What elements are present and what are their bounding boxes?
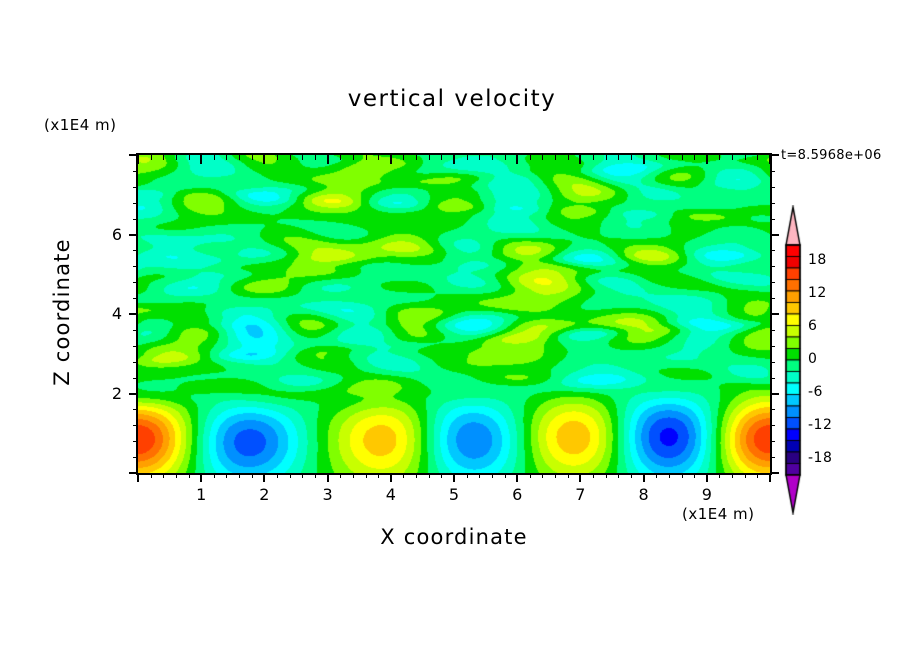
x-tick-minor xyxy=(467,473,468,478)
contour-plot-area xyxy=(136,153,772,475)
x-tick-major-top xyxy=(706,155,708,164)
x-tick-major-top xyxy=(263,155,265,164)
x-tick-minor xyxy=(239,473,240,478)
y-tick-minor xyxy=(133,409,138,410)
x-tick-label: 8 xyxy=(624,485,664,504)
y-tick-minor xyxy=(133,203,138,204)
y-tick-major xyxy=(129,313,138,315)
x-tick-minor xyxy=(353,473,354,478)
y-tick-minor xyxy=(133,171,138,172)
x-tick-label: 7 xyxy=(560,485,600,504)
x-tick-major-top xyxy=(137,155,139,164)
x-tick-minor xyxy=(757,473,758,478)
x-tick-major xyxy=(390,473,392,482)
x-tick-major xyxy=(516,473,518,482)
x-tick-minor-top xyxy=(353,155,354,160)
y-tick-minor-right xyxy=(770,409,775,410)
colorbar-tick-label: -12 xyxy=(808,417,832,433)
x-tick-minor xyxy=(290,473,291,478)
x-tick-major xyxy=(453,473,455,482)
x-axis-title: X coordinate xyxy=(136,525,772,549)
colorbar-tick-label: -6 xyxy=(808,384,823,400)
x-tick-minor xyxy=(530,473,531,478)
x-tick-major-top xyxy=(327,155,329,164)
colorbar-tick-label: 12 xyxy=(808,285,827,301)
x-tick-minor-top xyxy=(441,155,442,160)
y-tick-minor-right xyxy=(770,441,775,442)
x-tick-minor xyxy=(631,473,632,478)
y-tick-minor-right xyxy=(770,298,775,299)
y-tick-minor-right xyxy=(770,330,775,331)
x-tick-minor xyxy=(403,473,404,478)
x-tick-major xyxy=(263,473,265,482)
colorbar-tick-label: -18 xyxy=(808,450,832,466)
y-tick-minor xyxy=(133,457,138,458)
y-tick-minor xyxy=(133,425,138,426)
x-tick-minor-top xyxy=(732,155,733,160)
x-tick-minor xyxy=(429,473,430,478)
x-tick-minor-top xyxy=(593,155,594,160)
x-tick-minor xyxy=(593,473,594,478)
x-tick-minor xyxy=(479,473,480,478)
x-tick-major xyxy=(137,473,139,482)
y-tick-minor-right xyxy=(770,171,775,172)
x-tick-major xyxy=(706,473,708,482)
x-tick-minor-top xyxy=(682,155,683,160)
x-tick-minor xyxy=(618,473,619,478)
x-tick-minor xyxy=(366,473,367,478)
x-tick-minor-top xyxy=(757,155,758,160)
x-tick-minor-top xyxy=(340,155,341,160)
x-tick-minor-top xyxy=(479,155,480,160)
x-tick-minor xyxy=(745,473,746,478)
x-tick-major-top xyxy=(643,155,645,164)
x-tick-minor-top xyxy=(492,155,493,160)
x-tick-minor-top xyxy=(429,155,430,160)
x-tick-minor-top xyxy=(315,155,316,160)
x-tick-minor-top xyxy=(151,155,152,160)
x-tick-major xyxy=(327,473,329,482)
x-tick-major-top xyxy=(200,155,202,164)
x-tick-minor-top xyxy=(226,155,227,160)
y-tick-major-right xyxy=(770,472,779,474)
x-tick-label: 6 xyxy=(497,485,537,504)
x-tick-minor xyxy=(542,473,543,478)
y-tick-label: 4 xyxy=(88,304,122,323)
x-tick-minor xyxy=(694,473,695,478)
x-tick-minor xyxy=(416,473,417,478)
x-tick-minor xyxy=(441,473,442,478)
y-tick-minor-right xyxy=(770,362,775,363)
x-tick-major xyxy=(579,473,581,482)
x-tick-minor xyxy=(189,473,190,478)
y-tick-label: 2 xyxy=(88,384,122,403)
x-tick-minor xyxy=(214,473,215,478)
x-tick-minor-top xyxy=(656,155,657,160)
y-tick-minor-right xyxy=(770,282,775,283)
colorbar-tick-label: 18 xyxy=(808,252,827,268)
x-tick-minor-top xyxy=(542,155,543,160)
y-tick-minor-right xyxy=(770,203,775,204)
x-tick-minor xyxy=(568,473,569,478)
y-tick-minor-right xyxy=(770,346,775,347)
x-tick-minor-top xyxy=(163,155,164,160)
x-tick-minor xyxy=(340,473,341,478)
x-tick-minor xyxy=(505,473,506,478)
timestamp-label: t=8.5968e+06 xyxy=(781,148,882,163)
y-tick-major-right xyxy=(770,393,779,395)
x-tick-minor-top xyxy=(745,155,746,160)
y-tick-minor xyxy=(133,441,138,442)
y-tick-label: 6 xyxy=(88,225,122,244)
x-tick-label: 4 xyxy=(371,485,411,504)
x-tick-minor-top xyxy=(606,155,607,160)
x-tick-minor-top xyxy=(302,155,303,160)
y-tick-minor xyxy=(133,266,138,267)
x-tick-major-top xyxy=(453,155,455,164)
colorbar-tick-label: 0 xyxy=(808,351,817,367)
x-tick-label: 5 xyxy=(434,485,474,504)
x-tick-label: 2 xyxy=(244,485,284,504)
x-tick-minor xyxy=(315,473,316,478)
y-tick-major-right xyxy=(770,154,779,156)
x-tick-label: 1 xyxy=(181,485,221,504)
y-tick-minor xyxy=(133,250,138,251)
y-tick-minor-right xyxy=(770,219,775,220)
x-tick-minor-top xyxy=(176,155,177,160)
x-tick-minor-top xyxy=(669,155,670,160)
x-tick-minor-top xyxy=(505,155,506,160)
x-tick-major-top xyxy=(516,155,518,164)
x-tick-major-top xyxy=(390,155,392,164)
page-title: vertical velocity xyxy=(0,86,904,112)
y-tick-major xyxy=(129,234,138,236)
y-tick-minor xyxy=(133,219,138,220)
y-tick-minor xyxy=(133,282,138,283)
y-tick-minor-right xyxy=(770,425,775,426)
y-tick-major xyxy=(129,472,138,474)
x-tick-minor-top xyxy=(530,155,531,160)
x-tick-minor-top xyxy=(555,155,556,160)
y-tick-minor-right xyxy=(770,378,775,379)
x-tick-minor-top xyxy=(189,155,190,160)
y-tick-major xyxy=(129,393,138,395)
x-tick-major-top xyxy=(769,155,771,164)
x-tick-minor xyxy=(656,473,657,478)
y-axis-title: Z coordinate xyxy=(50,222,74,402)
x-tick-minor-top xyxy=(719,155,720,160)
x-tick-minor-top xyxy=(252,155,253,160)
y-tick-minor-right xyxy=(770,457,775,458)
x-tick-minor xyxy=(226,473,227,478)
x-tick-minor-top xyxy=(277,155,278,160)
x-tick-minor-top xyxy=(416,155,417,160)
x-tick-minor xyxy=(719,473,720,478)
y-tick-minor xyxy=(133,346,138,347)
x-tick-minor-top xyxy=(631,155,632,160)
x-tick-major xyxy=(643,473,645,482)
y-tick-major-right xyxy=(770,313,779,315)
x-tick-label: 3 xyxy=(308,485,348,504)
x-tick-minor-top xyxy=(568,155,569,160)
x-tick-minor xyxy=(277,473,278,478)
x-tick-minor-top xyxy=(467,155,468,160)
x-tick-minor xyxy=(302,473,303,478)
y-axis-units-label: (x1E4 m) xyxy=(44,116,117,134)
x-tick-minor xyxy=(555,473,556,478)
x-tick-minor-top xyxy=(239,155,240,160)
x-tick-minor-top xyxy=(694,155,695,160)
x-tick-minor-top xyxy=(290,155,291,160)
y-tick-minor-right xyxy=(770,187,775,188)
x-tick-minor xyxy=(669,473,670,478)
x-tick-minor xyxy=(163,473,164,478)
vertical-velocity-field xyxy=(138,155,770,473)
y-tick-minor xyxy=(133,362,138,363)
x-axis-units-label: (x1E4 m) xyxy=(682,505,755,523)
x-tick-minor-top xyxy=(214,155,215,160)
x-tick-minor xyxy=(252,473,253,478)
x-tick-minor-top xyxy=(366,155,367,160)
x-tick-label: 9 xyxy=(687,485,727,504)
y-tick-minor xyxy=(133,330,138,331)
y-tick-major xyxy=(129,154,138,156)
x-tick-minor xyxy=(732,473,733,478)
x-tick-minor xyxy=(682,473,683,478)
x-tick-minor xyxy=(378,473,379,478)
y-tick-minor-right xyxy=(770,266,775,267)
y-tick-minor xyxy=(133,298,138,299)
x-tick-major xyxy=(200,473,202,482)
y-tick-minor-right xyxy=(770,250,775,251)
y-tick-minor xyxy=(133,378,138,379)
x-tick-minor-top xyxy=(403,155,404,160)
x-tick-minor xyxy=(176,473,177,478)
colorbar-tick-label: 6 xyxy=(808,318,817,334)
x-tick-minor xyxy=(151,473,152,478)
x-tick-minor-top xyxy=(618,155,619,160)
y-tick-major-right xyxy=(770,234,779,236)
x-tick-minor xyxy=(606,473,607,478)
colorbar: 181260-6-12-18 xyxy=(782,205,902,515)
x-tick-major-top xyxy=(579,155,581,164)
x-tick-major xyxy=(769,473,771,482)
y-tick-minor xyxy=(133,187,138,188)
x-tick-minor xyxy=(492,473,493,478)
x-tick-minor-top xyxy=(378,155,379,160)
